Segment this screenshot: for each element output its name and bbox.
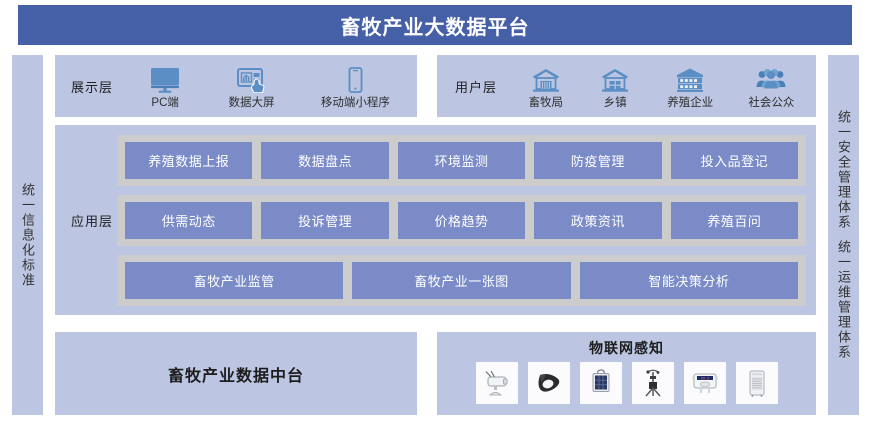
app-chip-data-inventory[interactable]: 数据盘点 <box>261 142 388 179</box>
app-chip-breeding-qa[interactable]: 养殖百问 <box>671 202 798 239</box>
user-layer-panel: 用户层 畜牧局 <box>437 55 816 117</box>
display-item-big-screen-label: 数据大屏 <box>229 94 275 110</box>
display-item-pc-label: PC端 <box>151 94 178 110</box>
monitor-icon <box>148 63 182 93</box>
app-chip-complaint-management[interactable]: 投诉管理 <box>261 202 388 239</box>
display-item-pc[interactable]: PC端 <box>148 63 182 110</box>
iot-device-camera[interactable] <box>476 362 518 404</box>
user-layer-label: 用户层 <box>455 77 497 96</box>
display-layer-label: 展示层 <box>71 77 113 96</box>
application-layer-panel: 应用层 养殖数据上报 数据盘点 环境监测 防疫管理 投入品登记 供需动态 投诉管… <box>55 125 816 315</box>
iot-layer-title: 物联网感知 <box>589 338 664 358</box>
application-row-1: 养殖数据上报 数据盘点 环境监测 防疫管理 投入品登记 <box>117 135 806 186</box>
farm-building-icon <box>673 63 707 93</box>
mobile-phone-icon <box>338 63 372 93</box>
user-item-public-label: 社会公众 <box>748 94 794 110</box>
left-rail-label: 统一信息化标准 <box>21 183 34 288</box>
app-chip-input-registration[interactable]: 投入品登记 <box>671 142 798 179</box>
app-chip-industry-supervision[interactable]: 畜牧产业监管 <box>125 262 343 299</box>
led-display-sensor-icon: 88.8 <box>687 366 723 400</box>
application-row-2: 供需动态 投诉管理 价格趋势 政策资讯 养殖百问 <box>117 195 806 246</box>
application-layer-label: 应用层 <box>71 211 117 230</box>
iot-layer-panel: 物联网感知 <box>437 332 816 415</box>
dashboard-touch-icon <box>235 63 269 93</box>
iot-device-environment-unit[interactable] <box>736 362 778 404</box>
user-item-township-label: 乡镇 <box>604 94 627 110</box>
display-layer-items: PC端 数据大 <box>121 63 417 110</box>
iot-device-weather-station[interactable] <box>632 362 674 404</box>
user-item-township[interactable]: 乡镇 <box>598 63 632 110</box>
display-item-mini-program-label: 移动端小程序 <box>321 94 390 110</box>
user-item-farming-enterprise[interactable]: 养殖企业 <box>667 63 713 110</box>
data-platform-title: 畜牧产业数据中台 <box>168 362 304 386</box>
iot-device-list: 88.8 <box>476 362 778 404</box>
svg-text:88.8: 88.8 <box>700 377 708 381</box>
user-item-farming-enterprise-label: 养殖企业 <box>667 94 713 110</box>
weather-station-tripod-icon <box>635 366 671 400</box>
page-title: 畜牧产业大数据平台 <box>18 5 852 45</box>
government-building-icon <box>529 63 563 93</box>
display-layer-panel: 展示层 PC端 <box>55 55 417 117</box>
application-layer-rows: 养殖数据上报 数据盘点 环境监测 防疫管理 投入品登记 供需动态 投诉管理 价格… <box>117 135 816 306</box>
app-chip-policy-news[interactable]: 政策资讯 <box>534 202 661 239</box>
app-chip-smart-decision-analysis[interactable]: 智能决策分析 <box>580 262 798 299</box>
data-platform-panel: 畜牧产业数据中台 <box>55 332 417 415</box>
people-group-icon <box>754 63 788 93</box>
app-chip-supply-demand[interactable]: 供需动态 <box>125 202 252 239</box>
right-rail-management-systems: 统一安全管理体系 统一运维管理体系 <box>828 55 859 415</box>
app-chip-environment-monitoring[interactable]: 环境监测 <box>398 142 525 179</box>
ear-tag-collar-icon <box>531 366 567 400</box>
app-chip-breeding-data-report[interactable]: 养殖数据上报 <box>125 142 252 179</box>
app-chip-industry-one-map[interactable]: 畜牧产业一张图 <box>352 262 570 299</box>
solar-panel-sensor-icon <box>583 366 619 400</box>
user-item-public[interactable]: 社会公众 <box>748 63 794 110</box>
town-house-icon <box>598 63 632 93</box>
iot-device-led-sensor[interactable]: 88.8 <box>684 362 726 404</box>
user-item-husbandry-bureau-label: 畜牧局 <box>529 94 564 110</box>
page-title-text: 畜牧产业大数据平台 <box>341 11 530 40</box>
right-rail-label-security: 统一安全管理体系 <box>837 110 850 230</box>
iot-device-solar-sensor[interactable] <box>580 362 622 404</box>
environment-control-unit-icon <box>739 366 775 400</box>
application-row-3: 畜牧产业监管 畜牧产业一张图 智能决策分析 <box>117 255 806 306</box>
user-item-husbandry-bureau[interactable]: 畜牧局 <box>529 63 564 110</box>
left-rail-unified-standard: 统一信息化标准 <box>12 55 43 415</box>
right-rail-label-operations: 统一运维管理体系 <box>837 240 850 360</box>
platform-architecture-diagram: 畜牧产业大数据平台 统一信息化标准 统一安全管理体系 统一运维管理体系 展示层 … <box>0 0 870 424</box>
security-camera-icon <box>479 366 515 400</box>
user-layer-items: 畜牧局 乡镇 <box>507 63 816 110</box>
display-item-mini-program[interactable]: 移动端小程序 <box>321 63 390 110</box>
app-chip-price-trend[interactable]: 价格趋势 <box>398 202 525 239</box>
display-item-big-screen[interactable]: 数据大屏 <box>229 63 275 110</box>
app-chip-epidemic-management[interactable]: 防疫管理 <box>534 142 661 179</box>
iot-device-ear-tag[interactable] <box>528 362 570 404</box>
